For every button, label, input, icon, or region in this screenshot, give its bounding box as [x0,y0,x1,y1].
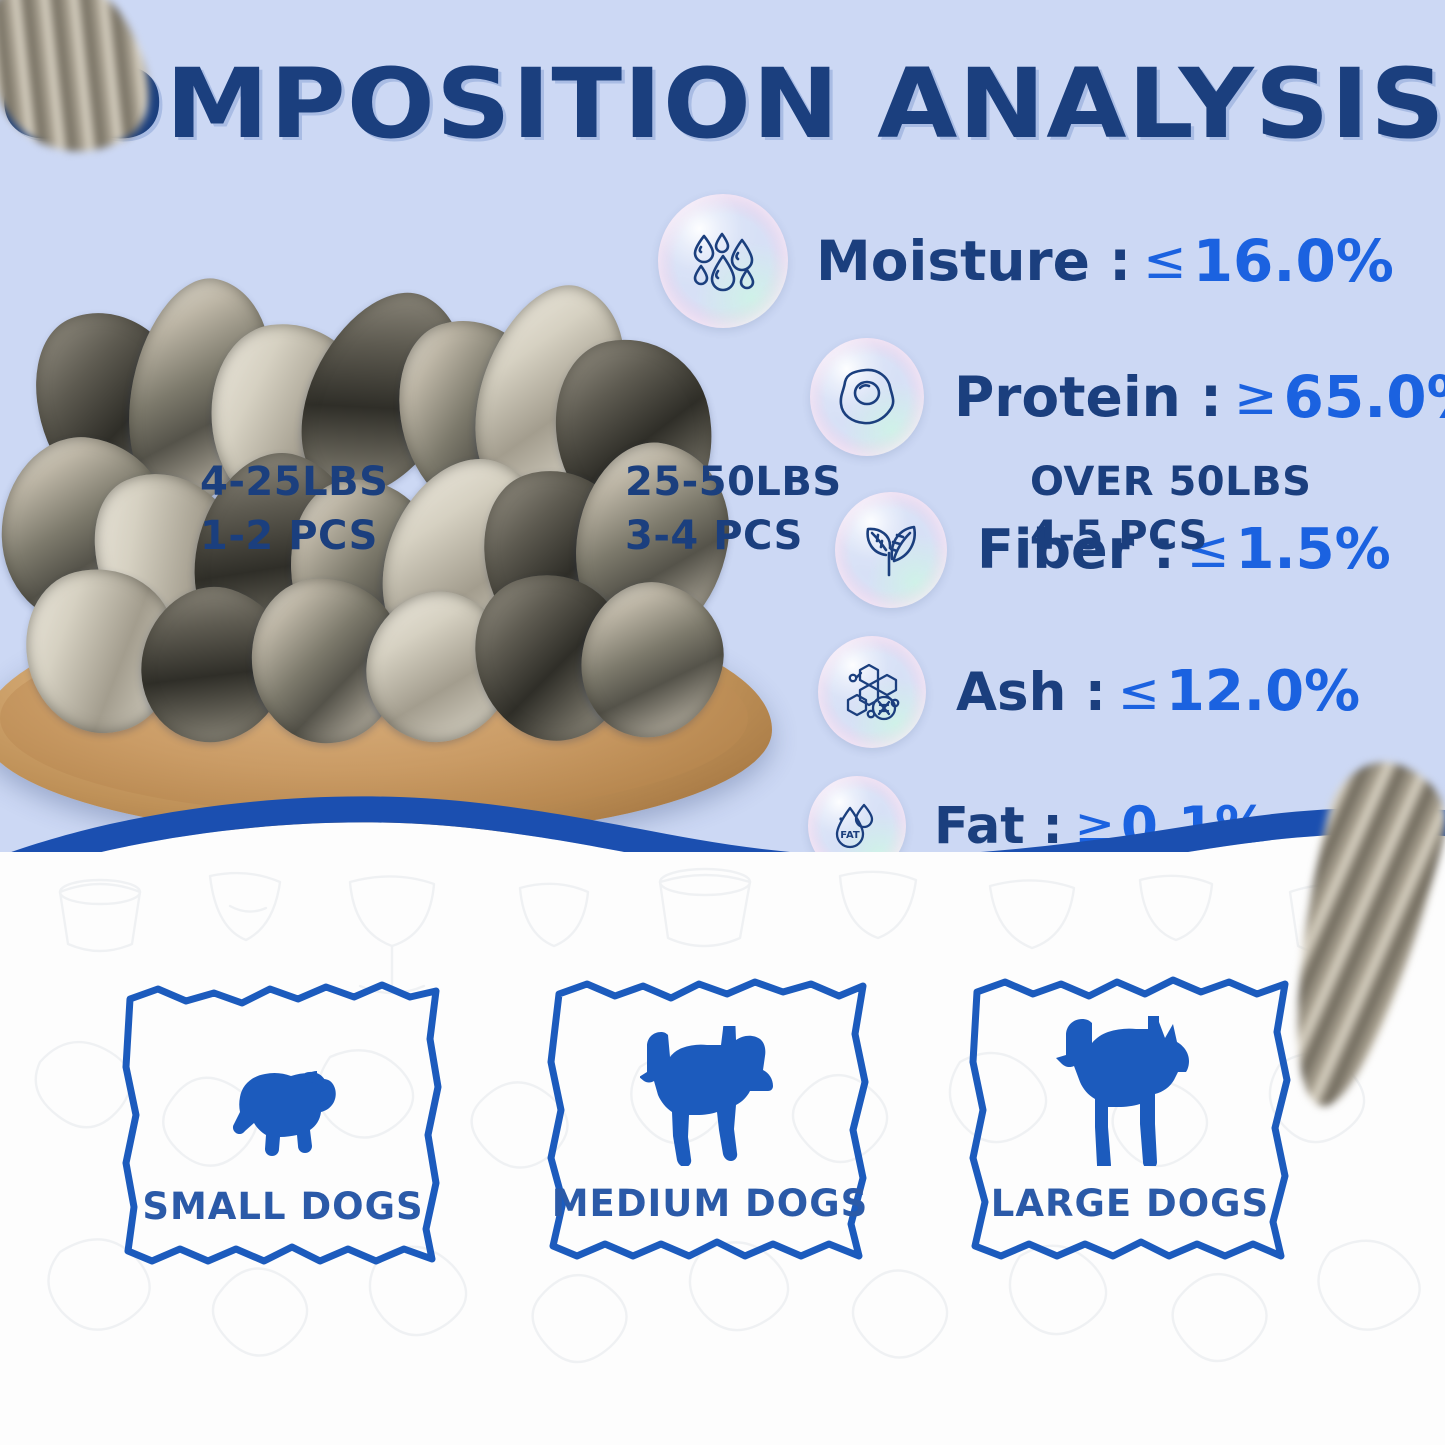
dog-size-meta-small: 4-25LBS 1-2 PCS [200,455,540,563]
nutrition-operator-ash: ≤ [1118,667,1160,717]
dog-pieces-large: 4-5 PCS [1030,509,1370,563]
dog-size-meta-medium: 25-50LBS 3-4 PCS [625,455,965,563]
dog-size-meta-large: OVER 50LBS 4-5 PCS [1030,455,1370,563]
page-title: COMPOSITION ANALYSIS [0,48,1445,160]
medium-dog-icon [545,1016,875,1166]
nutrition-row-moisture: Moisture : ≤ 16.0% [658,194,1394,328]
dog-size-cards: SMALL DOGS MEDIUM DOGS L [0,852,1445,1445]
nutrition-value-ash: 12.0% [1166,664,1360,720]
nutrition-row-protein: Protein : ≥ 65.0% [810,338,1445,456]
infographic-page: COMPOSITION ANALYSIS [0,0,1445,1445]
dog-pieces-medium: 3-4 PCS [625,509,965,563]
nutrition-label-ash: Ash : [956,666,1106,719]
dog-size-card-small[interactable]: SMALL DOGS [118,967,448,1267]
dog-size-card-medium[interactable]: MEDIUM DOGS [545,964,875,1264]
dog-weight-medium: 25-50LBS [625,455,965,509]
dog-size-card-large[interactable]: LARGE DOGS [965,964,1295,1264]
large-dog-icon [965,1016,1295,1166]
protein-bubble [810,338,924,456]
molecule-dna-icon [838,658,906,726]
egg-icon [832,362,902,432]
nutrition-value-moisture: 16.0% [1193,232,1394,290]
ash-bubble [818,636,926,748]
water-drops-icon [684,222,762,300]
dog-weight-large: OVER 50LBS [1030,455,1370,509]
nutrition-row-ash: Ash : ≤ 12.0% [818,636,1360,748]
nutrition-value-protein: 65.0% [1284,368,1445,426]
nutrition-operator-protein: ≥ [1234,371,1278,423]
dog-weight-small: 4-25LBS [200,455,540,509]
card-title-small: SMALL DOGS [118,1185,448,1228]
card-title-large: LARGE DOGS [965,1182,1295,1225]
dog-pieces-small: 1-2 PCS [200,509,540,563]
moisture-bubble [658,194,788,328]
composition-section: COMPOSITION ANALYSIS [0,0,1445,880]
nutrition-label-moisture: Moisture : [816,234,1131,289]
card-title-medium: MEDIUM DOGS [545,1182,875,1225]
nutrition-label-protein: Protein : [954,370,1222,425]
small-dog-icon [118,1019,448,1169]
nutrition-operator-moisture: ≤ [1143,235,1187,287]
